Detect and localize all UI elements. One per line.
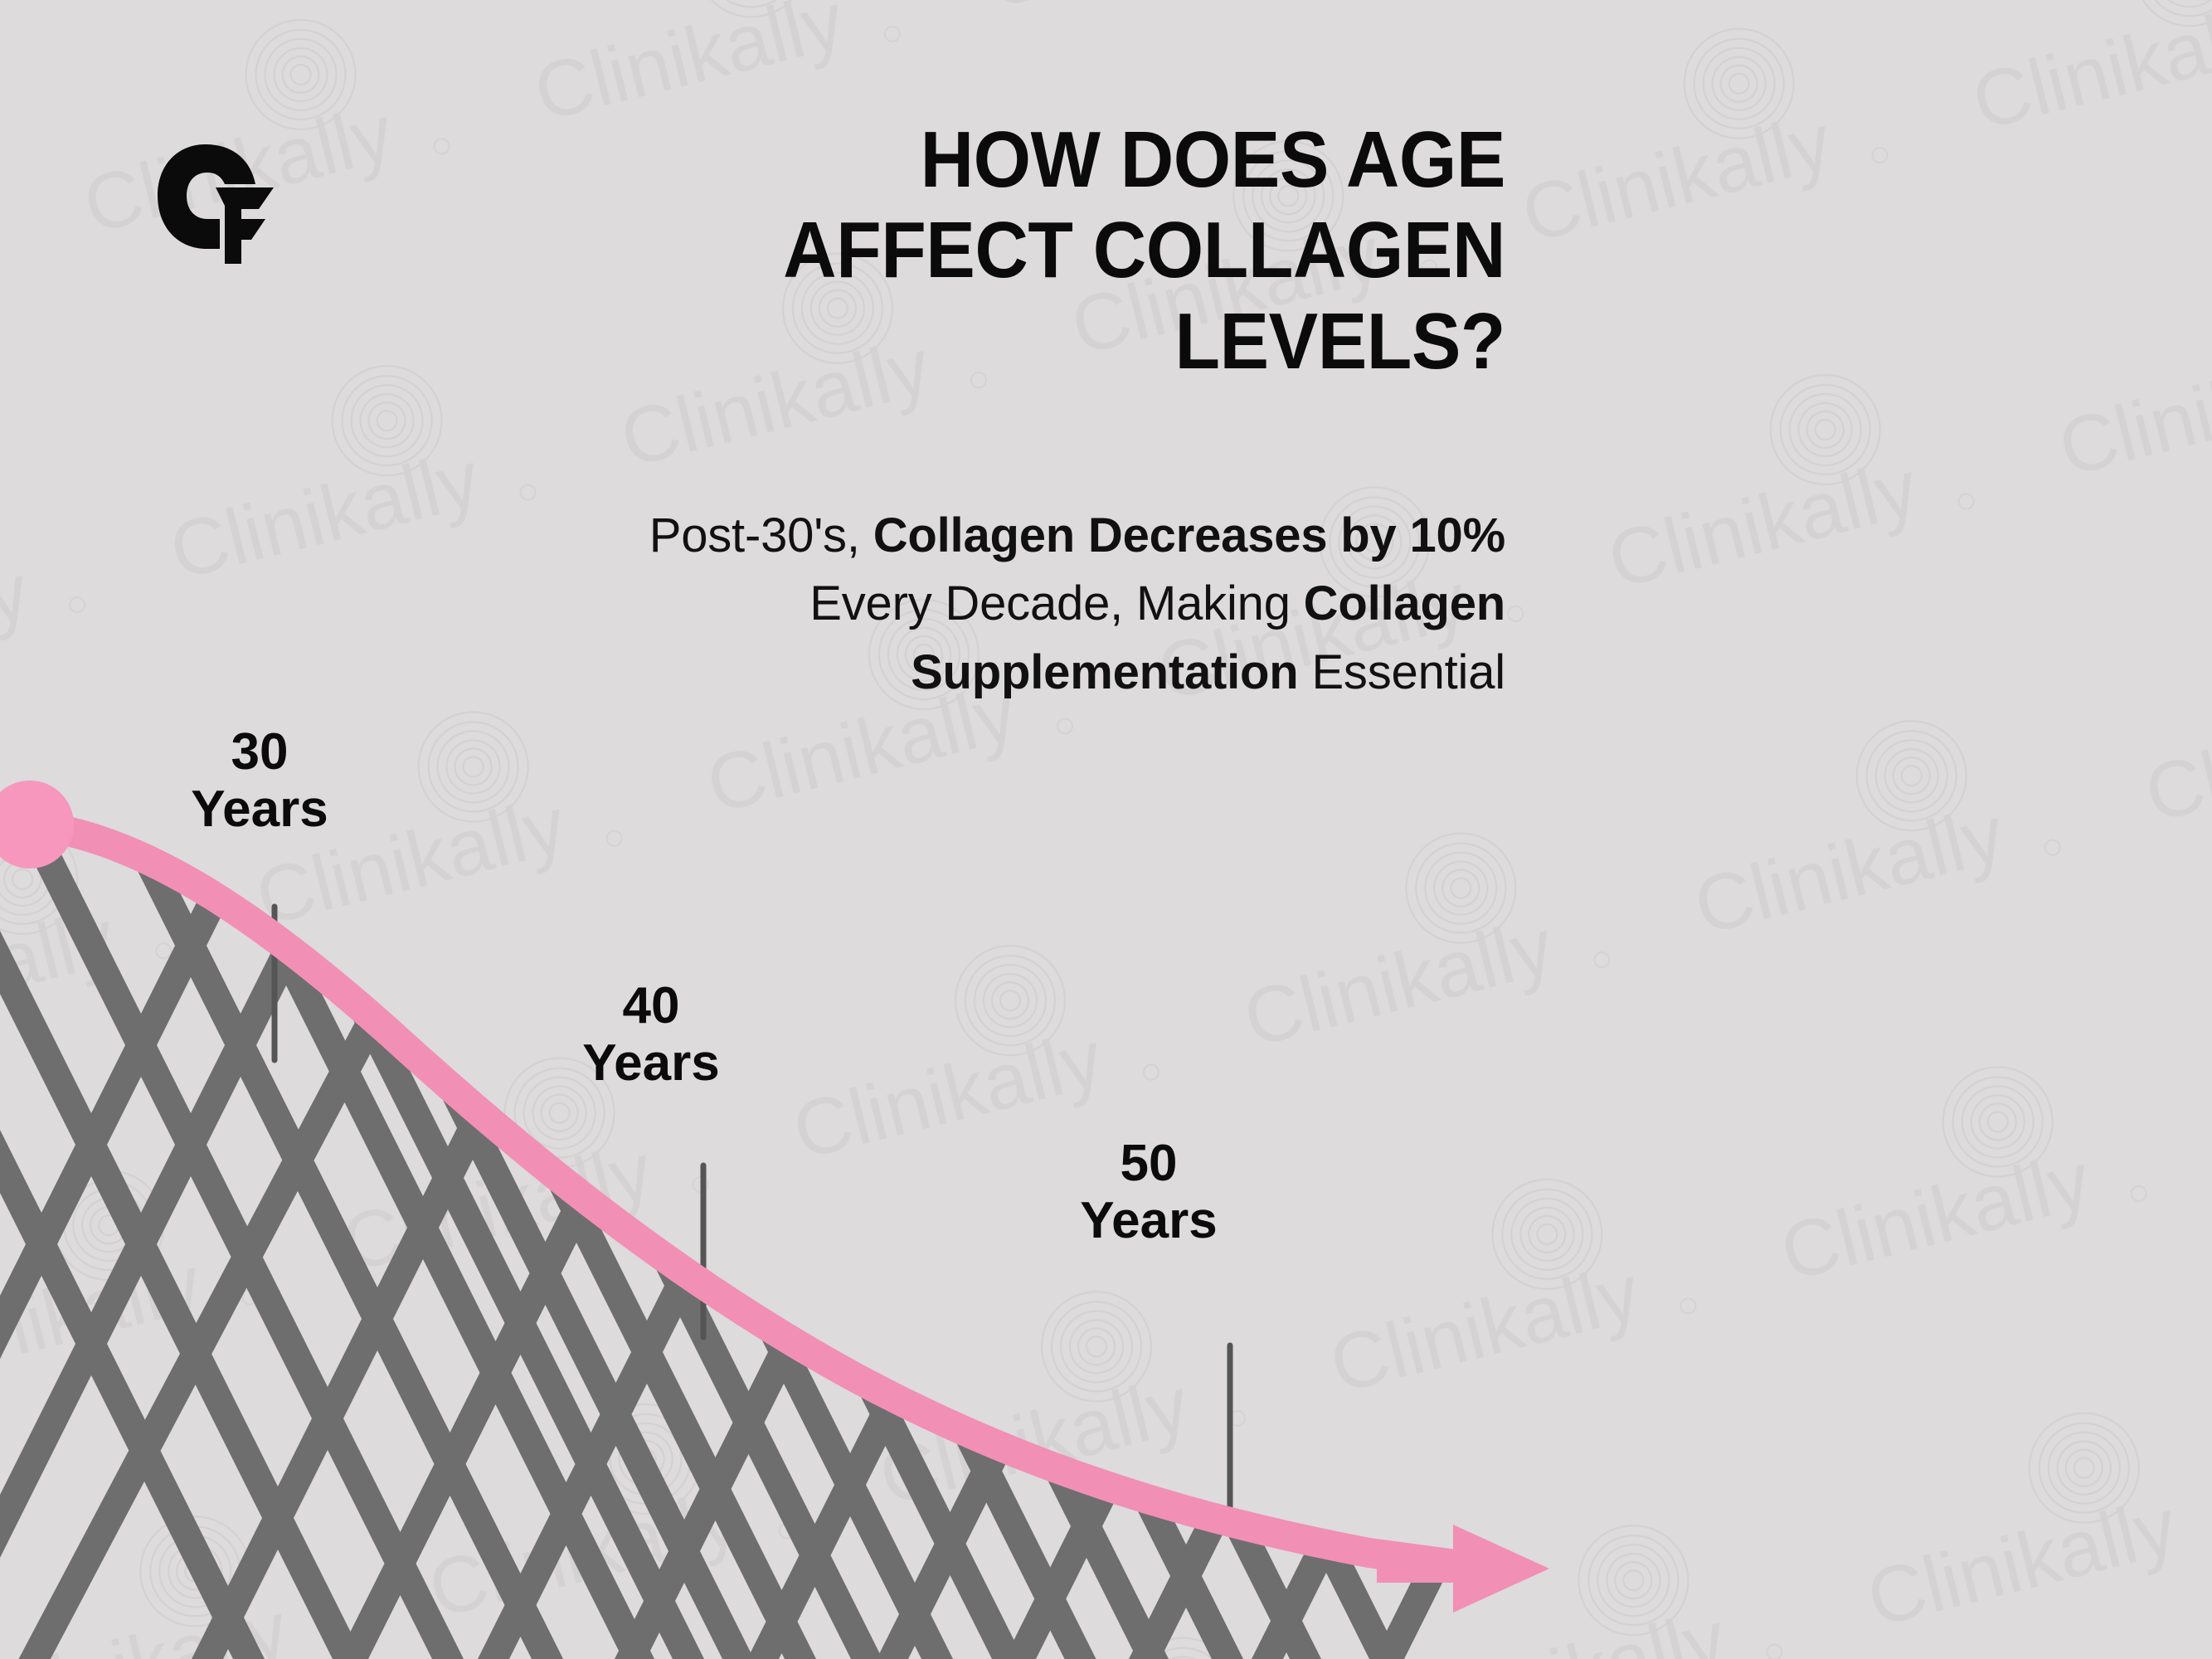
- callout-30-number: 30: [139, 723, 380, 781]
- headline-line-1: HOW DOES AGE: [734, 114, 1505, 205]
- infographic-canvas: Clinikally: [0, 0, 2212, 1659]
- callout-age-40: 40 Years: [531, 977, 771, 1092]
- subtitle: Post-30's, Collagen Decreases by 10% Eve…: [626, 502, 1505, 707]
- callout-50-number: 50: [1028, 1135, 1269, 1192]
- subtitle-seg-1: Post-30's,: [649, 508, 873, 562]
- page-title: HOW DOES AGE AFFECT COLLAGEN LEVELS?: [676, 114, 1505, 387]
- callout-40-unit: Years: [531, 1034, 771, 1092]
- subtitle-seg-2: Collagen Decreases by 10%: [873, 508, 1505, 562]
- headline-line-2: AFFECT COLLAGEN: [734, 205, 1505, 295]
- callout-30-unit: Years: [139, 781, 380, 838]
- subtitle-seg-5: Essential: [1299, 645, 1505, 699]
- subtitle-seg-3: Every Decade, Making: [809, 577, 1303, 630]
- callout-age-50: 50 Years: [1028, 1135, 1269, 1250]
- callout-40-number: 40: [531, 977, 771, 1034]
- curve-start-marker: [0, 781, 74, 868]
- callout-50-unit: Years: [1028, 1192, 1269, 1249]
- cf-brand-logo[interactable]: CF: [141, 133, 282, 265]
- callout-age-30: 30 Years: [139, 723, 380, 839]
- collagen-fiber-lattice: [0, 780, 1767, 1659]
- headline-line-3: LEVELS?: [734, 296, 1505, 387]
